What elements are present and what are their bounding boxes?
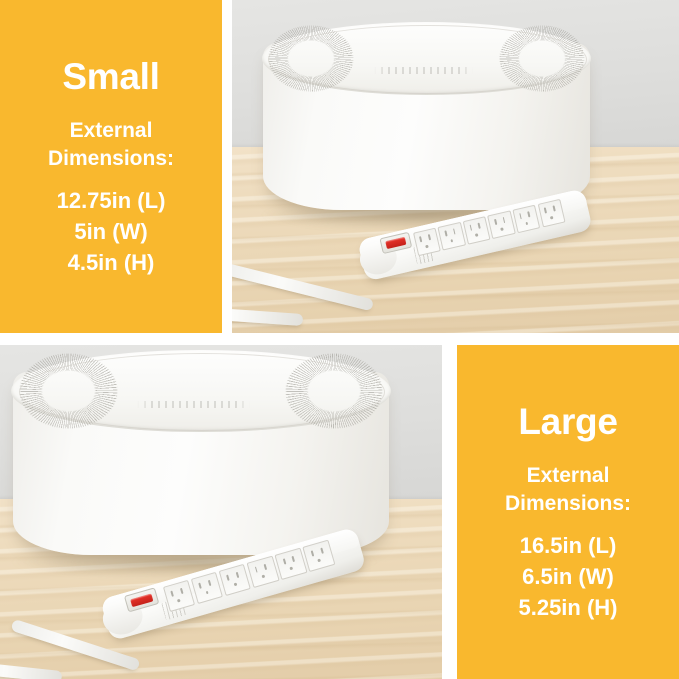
dimension-list-small: 12.75in (L) 5in (W) 4.5in (H) [57, 187, 166, 277]
vent-slots-left [268, 25, 354, 92]
subtitle-line-2: Dimensions: [505, 490, 631, 518]
switch-indicator-red [130, 593, 153, 607]
dimension-height: 5.25in (H) [518, 594, 617, 622]
cable-management-box [263, 43, 589, 210]
brand-logo-emboss [137, 401, 251, 408]
dimension-height: 4.5in (H) [68, 249, 155, 277]
panel-subtitle-large: External Dimensions: [505, 462, 631, 518]
box-lid [262, 22, 592, 95]
dimension-length: 12.75in (L) [57, 187, 166, 215]
product-photo-small [232, 0, 679, 333]
switch-indicator-red [385, 237, 406, 249]
info-panel-small: Small External Dimensions: 12.75in (L) 5… [0, 0, 222, 333]
vent-slots-right [285, 353, 384, 429]
panel-subtitle-small: External Dimensions: [48, 117, 174, 173]
subtitle-line-2: Dimensions: [48, 145, 174, 173]
panel-title-small: Small [62, 58, 159, 95]
subtitle-line-1: External [505, 462, 631, 490]
dimension-width: 6.5in (W) [522, 563, 614, 591]
dimension-length: 16.5in (L) [520, 532, 617, 560]
panel-title-large: Large [518, 403, 617, 440]
cable-management-box [13, 372, 389, 556]
vent-slots-right [499, 25, 585, 92]
subtitle-line-1: External [48, 117, 174, 145]
dimension-width: 5in (W) [74, 218, 147, 246]
product-photo-large [0, 345, 442, 679]
vent-slots-left [19, 353, 118, 429]
dimension-list-large: 16.5in (L) 6.5in (W) 5.25in (H) [518, 532, 617, 622]
infographic-canvas: Small External Dimensions: 12.75in (L) 5… [0, 0, 679, 679]
brand-logo-emboss [374, 67, 473, 74]
box-lid [11, 350, 390, 433]
info-panel-large: Large External Dimensions: 16.5in (L) 6.… [457, 345, 679, 679]
